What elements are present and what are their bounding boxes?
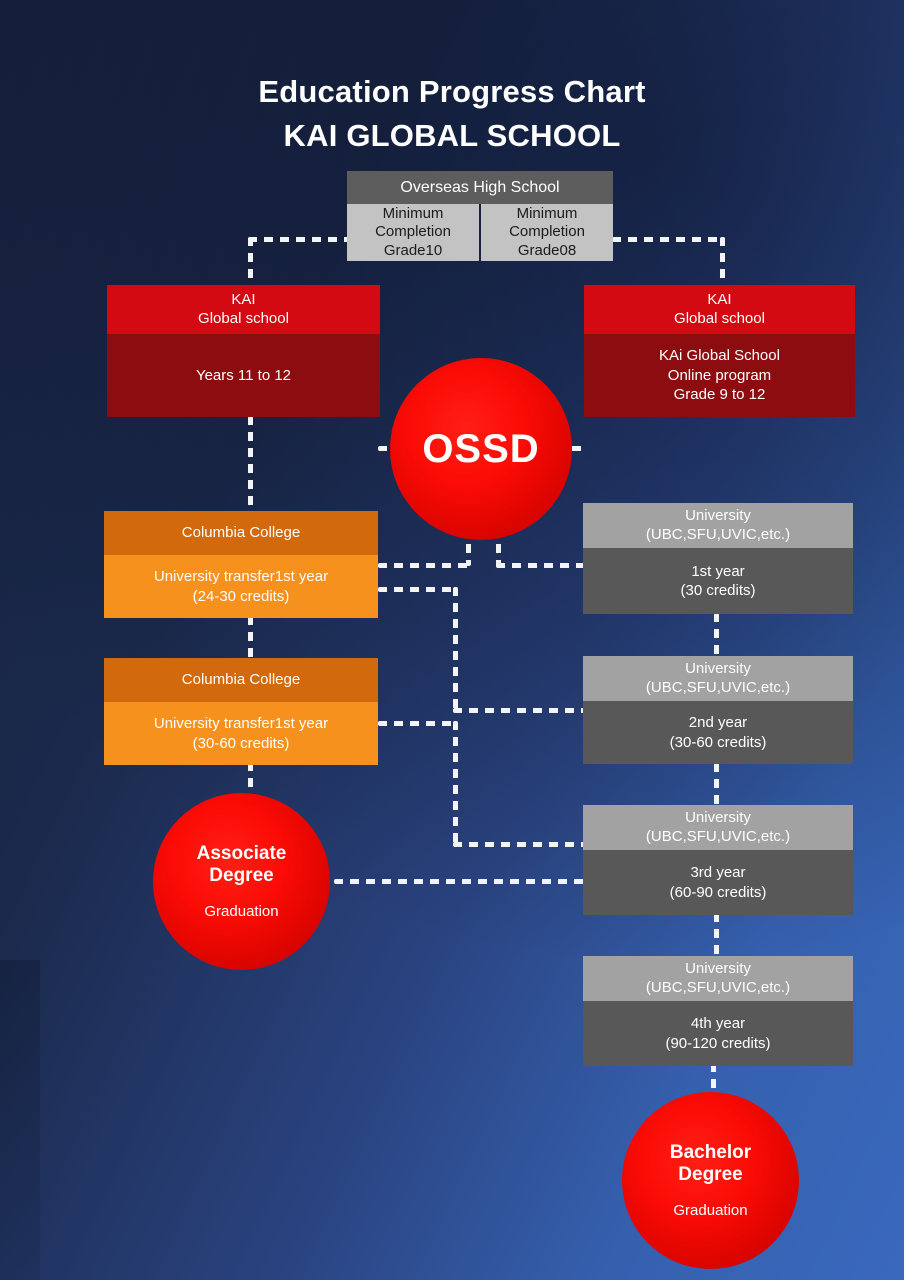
node-university-4th-year[interactable]: University(UBC,SFU,UVIC,etc.) 4th year(9… xyxy=(583,956,853,1066)
columbia-1-header: Columbia College xyxy=(104,511,378,555)
connector-kai-left-to-columbia-1 xyxy=(248,416,253,514)
associate-degree-subtitle: Graduation xyxy=(204,903,278,920)
overseas-subrow: MinimumCompletionGrade10 MinimumCompleti… xyxy=(347,204,613,261)
university-3-body: 3rd year(60-90 credits) xyxy=(583,850,853,915)
node-university-3rd-year[interactable]: University(UBC,SFU,UVIC,etc.) 3rd year(6… xyxy=(583,805,853,915)
overseas-minimum-grade10[interactable]: MinimumCompletionGrade10 xyxy=(347,204,479,261)
node-university-2nd-year[interactable]: University(UBC,SFU,UVIC,etc.) 2nd year(3… xyxy=(583,656,853,764)
overseas-minimum-grade08[interactable]: MinimumCompletionGrade08 xyxy=(481,204,613,261)
connector-associate-to-university-3 xyxy=(334,879,586,884)
connector-columbia-2-to-university-3-h1 xyxy=(378,721,458,726)
columbia-2-body: University transfer1st year(30-60 credit… xyxy=(104,702,378,765)
connector-overseas-right-to-kai-right-horizontal xyxy=(612,237,725,242)
node-bachelor-degree[interactable]: BachelorDegree Graduation xyxy=(622,1092,799,1269)
node-university-1st-year[interactable]: University(UBC,SFU,UVIC,etc.) 1st year(3… xyxy=(583,503,853,614)
connector-columbia-1-to-columbia-2 xyxy=(248,616,253,660)
connector-columbia-1-to-university-2-h1 xyxy=(378,587,458,592)
university-4-header: University(UBC,SFU,UVIC,etc.) xyxy=(583,956,853,1001)
associate-degree-title: AssociateDegree xyxy=(197,843,287,887)
columbia-1-body: University transfer1st year(24-30 credit… xyxy=(104,555,378,618)
kai-left-body: Years 11 to 12 xyxy=(107,334,380,417)
node-kai-global-school-left[interactable]: KAIGlobal school Years 11 to 12 xyxy=(107,285,380,417)
node-columbia-college-2[interactable]: Columbia College University transfer1st … xyxy=(104,658,378,765)
bachelor-degree-subtitle: Graduation xyxy=(673,1202,747,1219)
kai-left-header: KAIGlobal school xyxy=(107,285,380,334)
university-2-header: University(UBC,SFU,UVIC,etc.) xyxy=(583,656,853,701)
bachelor-degree-title: BachelorDegree xyxy=(670,1142,751,1186)
node-ossd-credential[interactable]: OSSD xyxy=(390,358,572,540)
overseas-header: Overseas High School xyxy=(347,171,613,204)
connector-columbia-2-to-university-3-v xyxy=(453,721,458,846)
node-kai-global-school-right[interactable]: KAIGlobal school KAi Global SchoolOnline… xyxy=(584,285,855,417)
kai-right-header: KAIGlobal school xyxy=(584,285,855,334)
university-2-body: 2nd year(30-60 credits) xyxy=(583,701,853,764)
connector-columbia-1-to-university-2-h2 xyxy=(453,708,588,713)
connector-university-2-to-university-3 xyxy=(714,763,719,805)
education-progress-chart: Education Progress Chart KAI GLOBAL SCHO… xyxy=(0,0,904,1280)
node-associate-degree[interactable]: AssociateDegree Graduation xyxy=(153,793,330,970)
connector-university-3-to-university-4 xyxy=(714,913,719,955)
node-overseas-high-school[interactable]: Overseas High School MinimumCompletionGr… xyxy=(347,171,613,261)
columbia-2-header: Columbia College xyxy=(104,658,378,702)
university-1-header: University(UBC,SFU,UVIC,etc.) xyxy=(583,503,853,548)
background-left-band xyxy=(0,960,40,1280)
university-4-body: 4th year(90-120 credits) xyxy=(583,1001,853,1066)
connector-ossd-to-university-1-horizontal xyxy=(496,563,586,568)
connector-columbia-1-to-university-2-v xyxy=(453,587,458,712)
connector-ossd-to-columbia-1-horizontal xyxy=(378,563,470,568)
kai-right-body: KAi Global SchoolOnline programGrade 9 t… xyxy=(584,334,855,417)
university-3-header: University(UBC,SFU,UVIC,etc.) xyxy=(583,805,853,850)
university-1-body: 1st year(30 credits) xyxy=(583,548,853,614)
connector-university-1-to-university-2 xyxy=(714,613,719,659)
connector-columbia-2-to-university-3-h2 xyxy=(453,842,588,847)
chart-title-line-1: Education Progress Chart xyxy=(0,74,904,110)
chart-title-line-2: KAI GLOBAL SCHOOL xyxy=(0,118,904,154)
node-columbia-college-1[interactable]: Columbia College University transfer1st … xyxy=(104,511,378,618)
connector-overseas-left-to-kai-left-horizontal xyxy=(248,237,350,242)
ossd-label: OSSD xyxy=(422,426,539,472)
